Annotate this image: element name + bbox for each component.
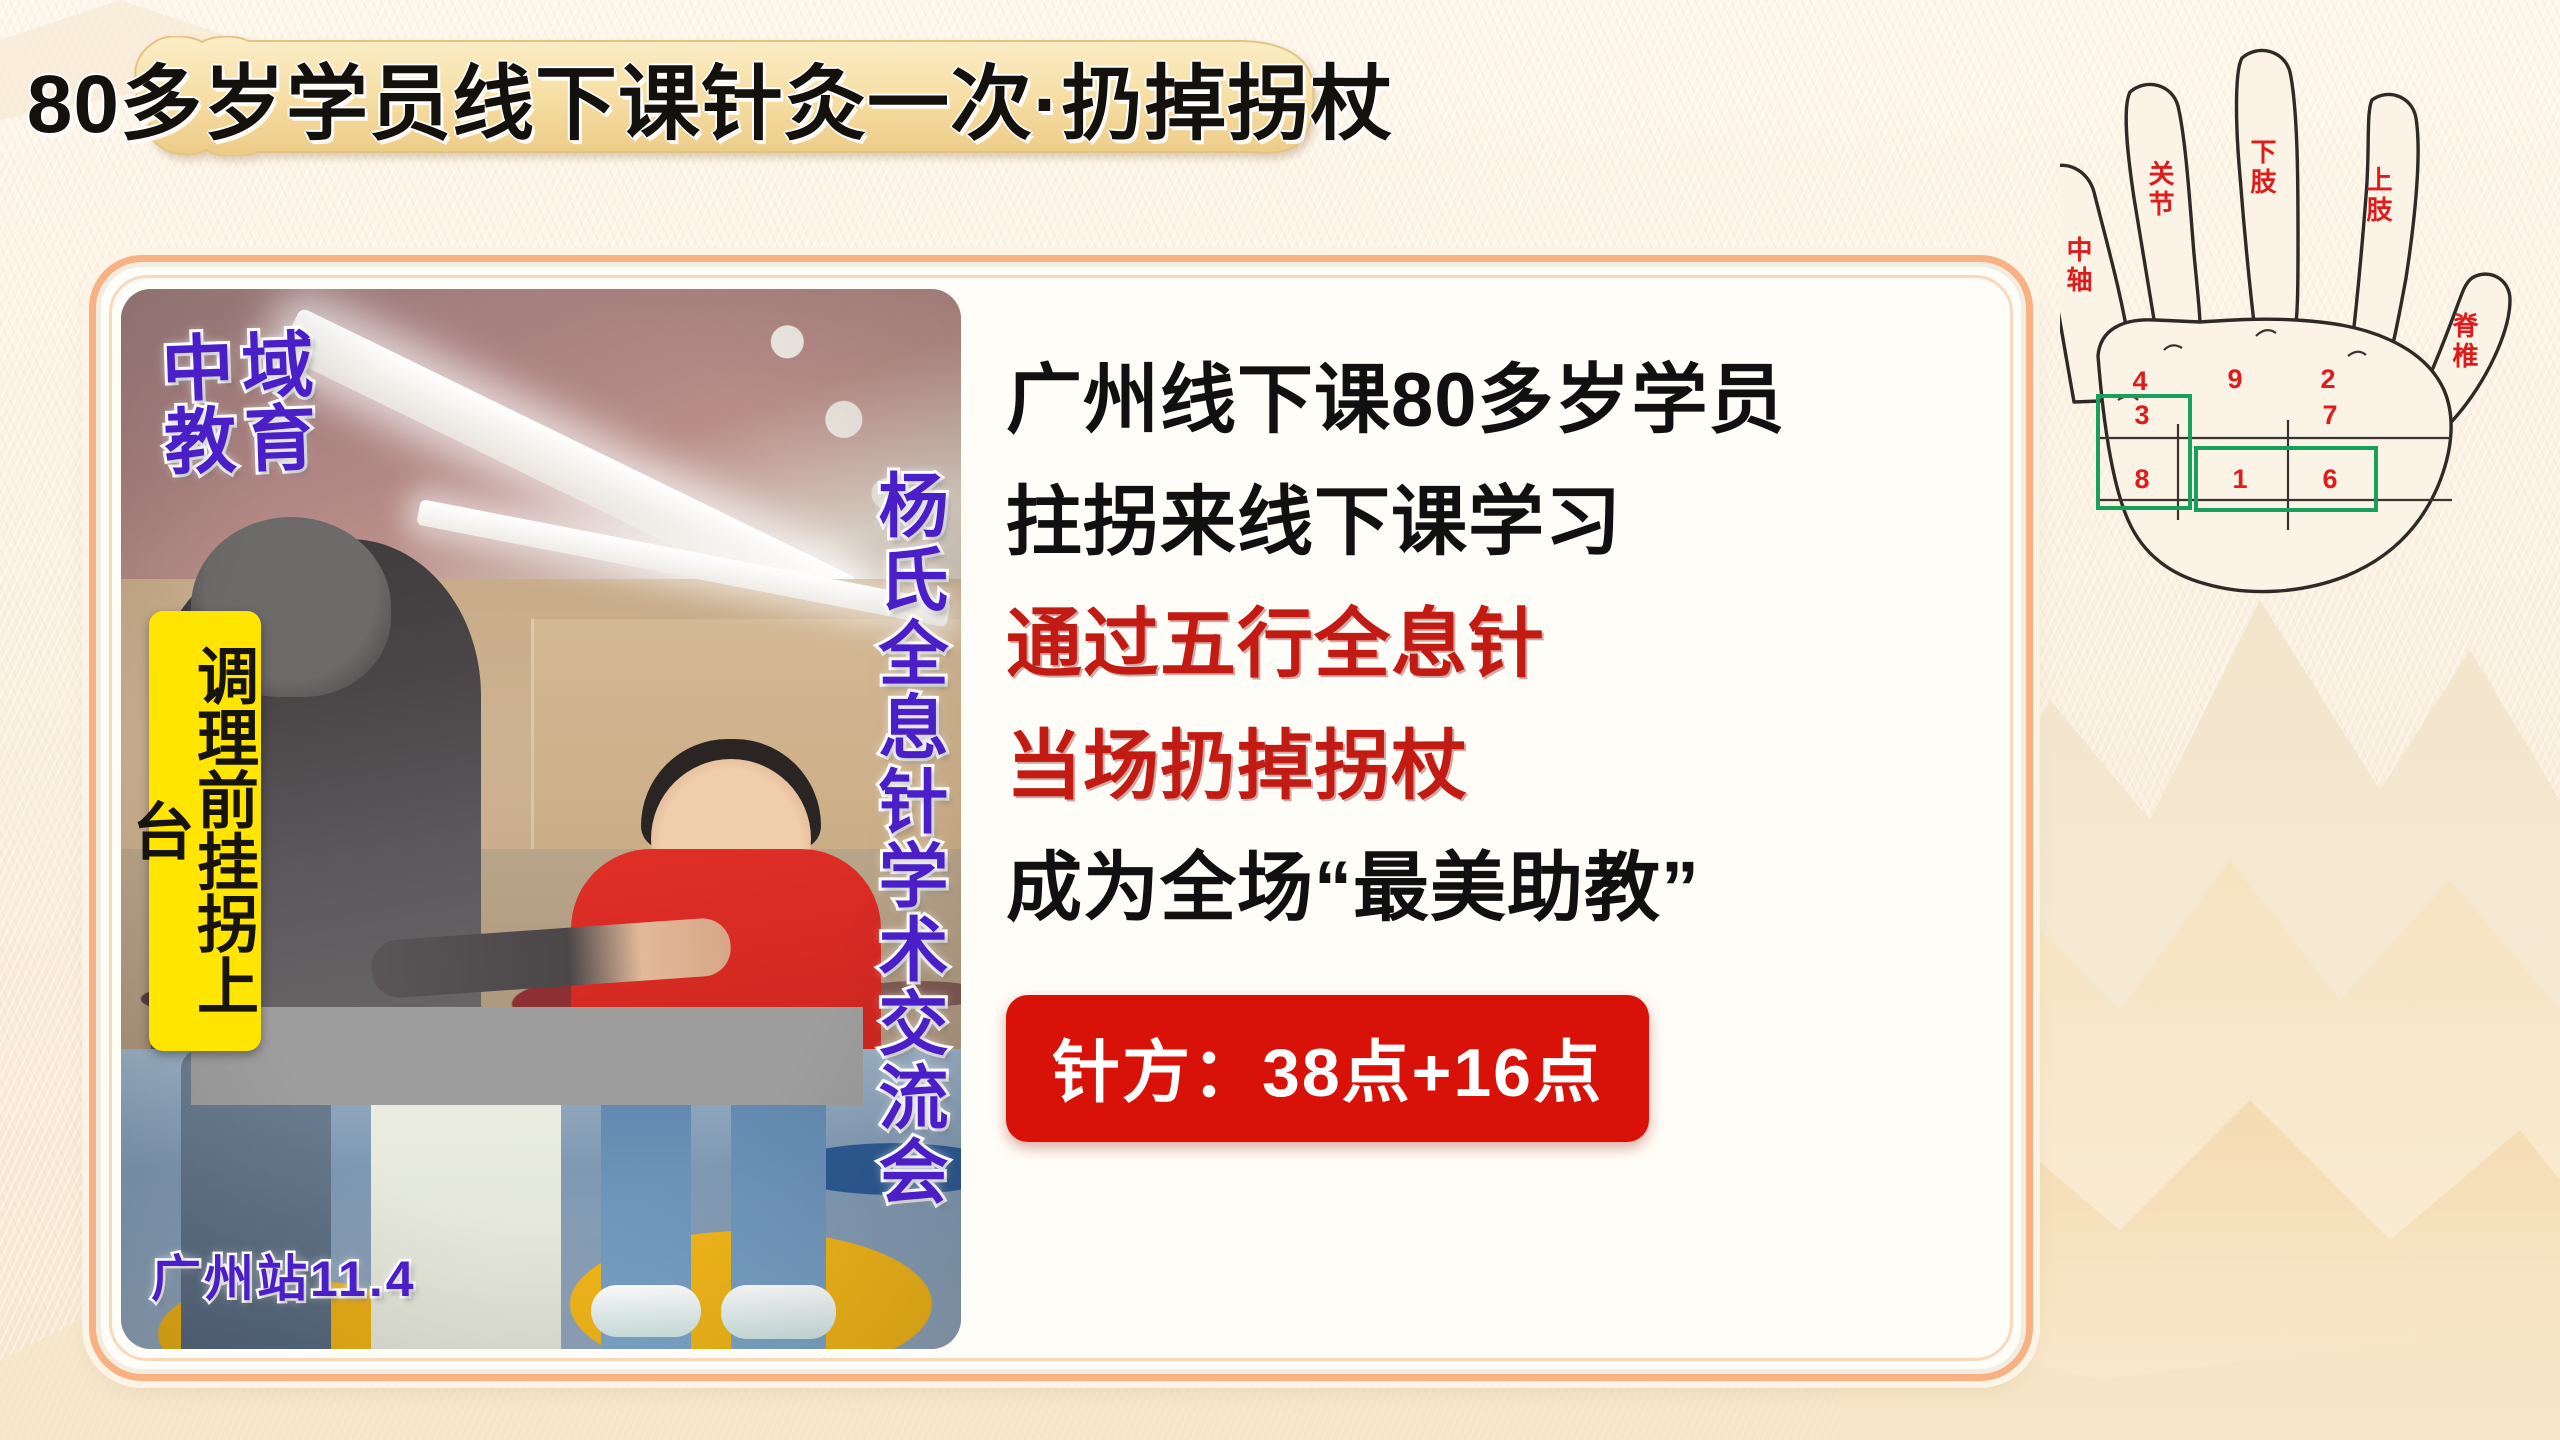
hand-zone-3: 3	[2134, 400, 2149, 430]
hand-zone-2: 2	[2320, 364, 2335, 394]
hand-palm-outline	[2098, 319, 2451, 591]
photo-yellow-caption-sign: 调理前挂拐上台	[149, 611, 261, 1051]
photo-panel: 中域教育 杨氏全息针学术交流会 广州站11.4 调理前挂拐上台	[121, 289, 961, 1349]
hand-middle-outline	[2237, 50, 2299, 340]
photo-brand-watermark: 中域教育	[161, 327, 396, 482]
hand-zone-9: 9	[2227, 364, 2242, 394]
hand-zone-1: 1	[2232, 464, 2247, 494]
photo-footer-watermark: 广州站11.4	[151, 1239, 417, 1311]
content-line-2: 拄拐来线下课学习	[1006, 485, 1986, 561]
prescription-badge: 针方：38点+16点	[1006, 995, 1649, 1142]
content-line-5: 成为全场“最美助教”	[1006, 851, 1986, 927]
content-line-3: 通过五行全息针	[1006, 607, 1986, 683]
hand-zone-4: 4	[2132, 366, 2147, 396]
hand-index-outline	[2126, 84, 2200, 356]
content-line-4: 当场扔掉拐杖	[1006, 729, 1986, 805]
poster-root: 80多岁学员线下课针灸一次·扔掉拐杖	[0, 0, 2560, 1440]
photo-vertical-watermark: 杨氏全息针学术交流会	[871, 469, 945, 1209]
content-text-column: 广州线下课80多岁学员 拄拐来线下课学习 通过五行全息针 当场扔掉拐杖 成为全场…	[1006, 363, 1986, 1142]
hand-zone-7: 7	[2322, 400, 2337, 430]
page-title: 80多岁学员线下课针灸一次·扔掉拐杖	[62, 36, 1340, 156]
event-photo: 中域教育 杨氏全息针学术交流会 广州站11.4 调理前挂拐上台	[121, 289, 961, 1349]
main-content-card: 中域教育 杨氏全息针学术交流会 广州站11.4 调理前挂拐上台 广州线下课80多…	[96, 262, 2026, 1374]
hand-zone-8: 8	[2134, 464, 2149, 494]
title-banner: 80多岁学员线下课针灸一次·扔掉拐杖	[62, 36, 1340, 156]
hand-zone-6: 6	[2322, 464, 2337, 494]
hand-acupuncture-diagram: 中轴 关节 下肢 上肢 脊椎 4 9 2 3 7 8 1 6	[2060, 0, 2560, 640]
content-line-1: 广州线下课80多岁学员	[1006, 363, 1986, 439]
